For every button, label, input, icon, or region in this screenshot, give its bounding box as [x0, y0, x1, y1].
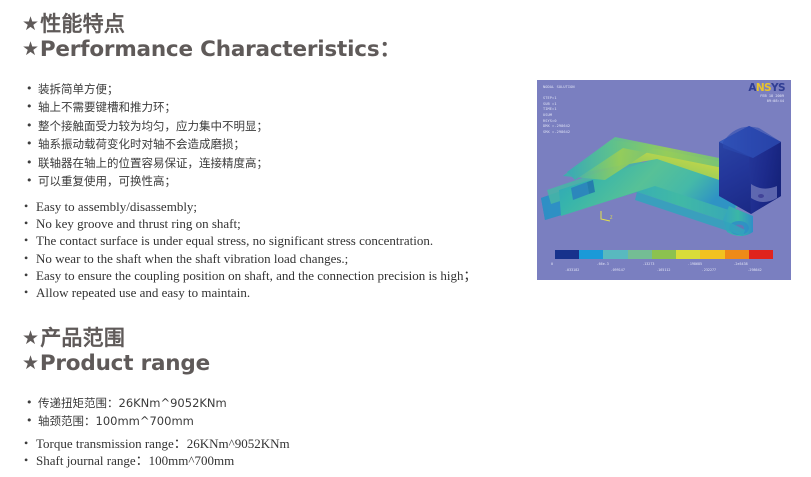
star-icon: ★: [22, 13, 39, 35]
fea-header-text: NODAL SOLUTION STEP=1 SUB =1 TIME=1 USUM…: [543, 85, 575, 135]
list-item: 传递扭矩范围：26KNm^9052KNm: [26, 394, 227, 412]
star-icon: ★: [22, 38, 39, 60]
fea-colorbar: [555, 250, 773, 259]
colorbar-swatch-4: [652, 250, 676, 259]
list-item: 轴系振动载荷变化时对轴不会造成磨损；: [26, 135, 268, 153]
colorbar-label: .099147: [611, 268, 657, 272]
colorbar-swatch-8: [749, 250, 773, 259]
colorbar-labels-bottom: .033182.099147.165112.232277.298642: [565, 268, 791, 272]
ansys-logo-letter-n: N: [756, 82, 764, 94]
list-item: Allow repeated use and easy to maintain.: [24, 284, 476, 301]
axis-triad-icon: Z: [599, 209, 613, 223]
product-range-heading-en-text: Product range: [40, 351, 210, 376]
colorbar-swatch-1: [579, 250, 603, 259]
colorbar-label: .13273: [642, 262, 688, 266]
colorbar-swatch-5: [676, 250, 700, 259]
product-range-heading-en: ★Product range: [22, 351, 210, 376]
list-item: 轴上不需要键槽和推力环；: [26, 98, 268, 116]
star-icon: ★: [22, 352, 39, 374]
list-item: 整个接触面受力较为均匀，应力集中不明显；: [26, 117, 268, 135]
colorbar-label: .198685: [688, 262, 734, 266]
performance-heading-en: ★Performance Characteristics：: [22, 37, 401, 62]
list-item: Easy to assembly/disassembly;: [24, 198, 476, 215]
svg-text:Z: Z: [610, 215, 613, 220]
performance-bullets-en: Easy to assembly/disassembly; No key gro…: [24, 198, 476, 301]
product-range-heading-cn-text: 产品范围: [40, 326, 125, 350]
ansys-logo: ANSYS: [748, 83, 785, 93]
product-range-heading-cn: ★产品范围: [22, 326, 210, 351]
performance-heading-cn: ★性能特点: [22, 12, 401, 37]
list-item: No key groove and thrust ring on shaft;: [24, 215, 476, 232]
colorbar-swatch-3: [628, 250, 652, 259]
performance-heading-block: ★性能特点 ★Performance Characteristics：: [22, 12, 401, 62]
list-item: The contact surface is under equal stres…: [24, 232, 476, 249]
list-item: Torque transmission range：26KNm^9052KNm: [24, 435, 290, 452]
colorbar-swatch-0: [555, 250, 579, 259]
list-item: 装拆简单方便；: [26, 80, 268, 98]
ansys-logo-letter-y: Y: [771, 82, 778, 94]
product-range-heading-block: ★产品范围 ★Product range: [22, 326, 210, 376]
fea-timestamp: FEB 18 2009 09:08:44: [760, 94, 784, 105]
performance-heading-cn-text: 性能特点: [40, 12, 125, 36]
list-item: Easy to ensure the coupling position on …: [24, 267, 476, 284]
product-range-bullets-cn: 传递扭矩范围：26KNm^9052KNm 轴颈范围：100mm^700mm: [26, 394, 227, 431]
product-range-bullets-en: Torque transmission range：26KNm^9052KNm …: [24, 435, 290, 469]
colorbar-swatch-6: [700, 250, 724, 259]
list-item: No wear to the shaft when the shaft vibr…: [24, 250, 476, 267]
performance-bullets-cn: 装拆简单方便； 轴上不需要键槽和推力环； 整个接触面受力较为均匀，应力集中不明显…: [26, 80, 268, 190]
colorbar-label: 0: [551, 262, 597, 266]
star-icon: ★: [22, 327, 39, 349]
list-item: 联轴器在轴上的位置容易保证，连接精度高；: [26, 154, 268, 172]
performance-heading-en-text: Performance Characteristics：: [40, 37, 401, 62]
colorbar-label: .298642: [747, 268, 791, 272]
colorbar-label: .033182: [565, 268, 611, 272]
colorbar-label: .66e-3: [597, 262, 643, 266]
colorbar-label: .2e5438: [733, 262, 779, 266]
colorbar-labels-top: 0.66e-3.13273.198685.2e5438: [551, 262, 781, 266]
colorbar-swatch-7: [725, 250, 749, 259]
ansys-logo-letter-s: S: [764, 82, 771, 94]
ansys-logo-letter-a: A: [748, 82, 756, 94]
list-item: 轴颈范围：100mm^700mm: [26, 412, 227, 430]
fea-contour-figure: NODAL SOLUTION STEP=1 SUB =1 TIME=1 USUM…: [537, 80, 791, 280]
list-item: 可以重复使用，可换性高；: [26, 172, 268, 190]
colorbar-label: .232277: [702, 268, 748, 272]
ansys-logo-letter-s2: S: [778, 82, 785, 94]
colorbar-swatch-2: [603, 250, 627, 259]
colorbar-label: .165112: [656, 268, 702, 272]
list-item: Shaft journal range：100mm^700mm: [24, 452, 290, 469]
